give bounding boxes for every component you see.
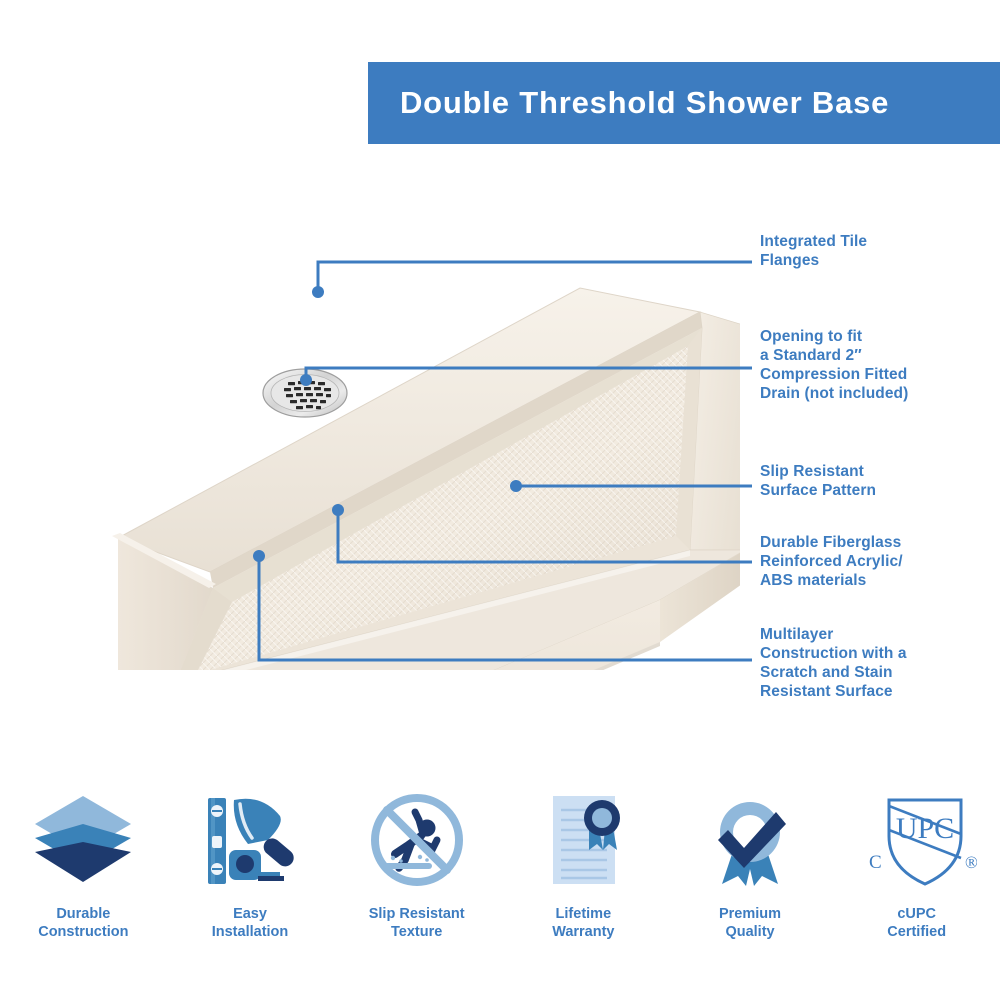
no-slip-icon	[365, 785, 469, 895]
callout-slip-resistant-surface: Slip Resistant Surface Pattern	[760, 462, 876, 500]
feature-label: Premium Quality	[719, 905, 781, 941]
feature-cupc-certified: UPC C ® cUPC Certified	[833, 785, 1000, 941]
feature-label: Easy Installation	[212, 905, 289, 941]
upc-shield-icon: UPC C ®	[857, 785, 977, 895]
drain-grate	[263, 369, 347, 417]
feature-badge-row: Durable Construction	[0, 785, 1000, 960]
layers-icon	[31, 785, 135, 895]
feature-premium-quality: Premium Quality	[667, 785, 834, 941]
upc-left-mark: C	[869, 852, 882, 873]
feature-label: Slip Resistant Texture	[369, 905, 465, 941]
feature-lifetime-warranty: Lifetime Warranty	[500, 785, 667, 941]
feature-easy-installation: Easy Installation	[167, 785, 334, 941]
callout-drain-opening: Opening to fit a Standard 2″ Compression…	[760, 327, 908, 403]
feature-label: Lifetime Warranty	[552, 905, 614, 941]
callout-multilayer-construction: Multilayer Construction with a Scratch a…	[760, 625, 907, 701]
upc-shield-text: UPC	[896, 812, 954, 845]
feature-label: cUPC Certified	[887, 905, 946, 941]
feature-slip-resistant: Slip Resistant Texture	[333, 785, 500, 941]
page-title: Double Threshold Shower Base	[368, 85, 889, 121]
award-check-icon	[698, 785, 802, 895]
product-illustration	[0, 250, 740, 670]
certificate-icon	[531, 785, 635, 895]
upc-right-mark: ®	[965, 853, 977, 872]
feature-label: Durable Construction	[38, 905, 128, 941]
feature-durable-construction: Durable Construction	[0, 785, 167, 941]
title-banner: Double Threshold Shower Base	[368, 62, 1000, 144]
callout-durable-materials: Durable Fiberglass Reinforced Acrylic/ A…	[760, 533, 903, 590]
callout-integrated-tile-flanges: Integrated Tile Flanges	[760, 232, 867, 270]
level-trowel-icon	[198, 785, 302, 895]
